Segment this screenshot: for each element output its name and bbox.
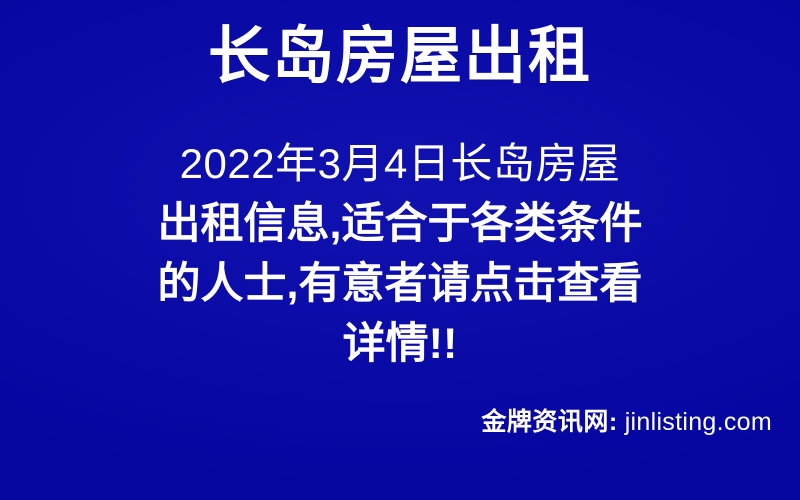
body-line-3: 的人士,有意者请点击查看	[0, 254, 800, 314]
footer-watermark: 金牌资讯网:jinlisting.com	[481, 402, 772, 438]
poster-title-block: 长岛房屋出租	[0, 22, 800, 91]
poster-content-layer: 长岛房屋出租 2022年3月4日长岛房屋 出租信息,适合于各类条件 的人士,有意…	[0, 0, 800, 500]
page-title: 长岛房屋出租	[208, 22, 592, 91]
body-line-1: 2022年3月4日长岛房屋	[0, 134, 800, 194]
footer-site-name: 金牌资讯网:	[481, 408, 617, 436]
footer-domain: jinlisting.com	[618, 408, 772, 436]
body-line-4: 详情!!	[0, 314, 800, 374]
body-line-2: 出租信息,适合于各类条件	[0, 194, 800, 254]
poster-body-block: 2022年3月4日长岛房屋 出租信息,适合于各类条件 的人士,有意者请点击查看 …	[0, 134, 800, 374]
rental-announcement-poster: 长岛房屋出租 2022年3月4日长岛房屋 出租信息,适合于各类条件 的人士,有意…	[0, 0, 800, 500]
